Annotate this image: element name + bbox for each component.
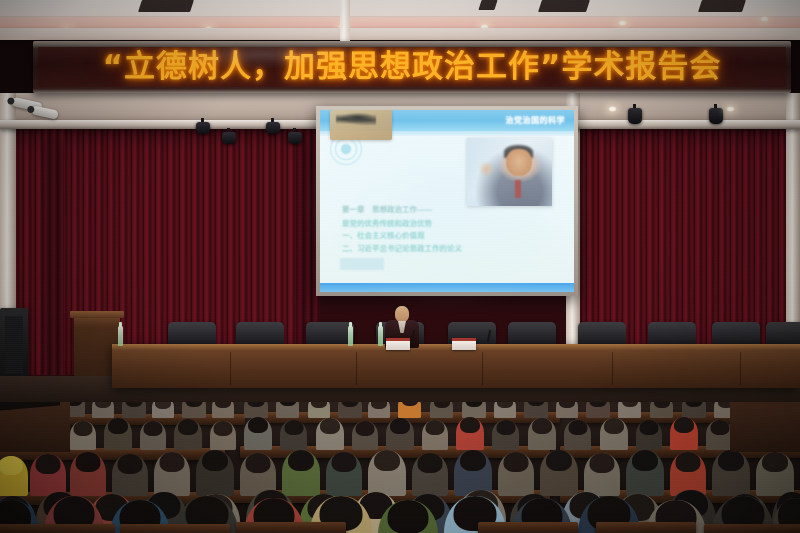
audience-person [112,454,148,496]
audience-person [422,420,448,450]
audience-person [282,450,320,496]
stage-light [266,118,280,134]
ceiling-vent [138,0,194,12]
curtain-fold-edge [42,125,64,375]
audience-person [154,452,190,496]
ceiling-column [340,0,350,42]
seat-bench-foreground [478,522,578,533]
ceiling-soffit [0,28,800,40]
audience-person [412,453,448,496]
audience-person [600,418,628,450]
audience-person [456,417,484,450]
audience-person [30,454,66,496]
audience-person [196,450,234,496]
audience-person [712,450,750,496]
slide-bullet-2: 一、社会主义核心价值观 [342,230,492,243]
audience-person [498,452,534,496]
seat-bench-foreground [596,522,696,533]
lectern-top [70,311,124,318]
audience-person [70,421,96,450]
audience-person [670,417,698,450]
audience-person [280,420,307,450]
audience-person [0,456,28,496]
ceiling-downlight [760,16,769,22]
ceiling-inner-panel [0,0,800,17]
audience-person [352,421,378,450]
slide-bullet-1: 是党的优秀传统和政治优势 [342,218,492,231]
auditorium-photo: “立德树人，加强思想政治工作”学术报告会 治党治国的科学 [0,0,800,533]
audience-person [584,453,620,496]
projection-screen: 治党治国的科学 第一章 思想政治工作—— 是党的优秀传统和政治优势 一、社会主义… [316,106,578,296]
slide-footer-bar [320,283,574,292]
stage-spot-light [726,106,735,112]
water-bottle [118,326,123,346]
audience-person [368,450,406,496]
presentation-slide: 治党治国的科学 第一章 思想政治工作—— 是党的优秀传统和政治优势 一、社会主义… [320,110,574,292]
portrait-tie [515,180,521,198]
pa-loudspeaker [0,308,28,386]
portrait-face [506,149,532,176]
audience-person [540,450,578,496]
stage-spot-light [608,106,617,112]
audience-person [626,450,664,496]
ceiling-vent [538,0,590,12]
ceiling-vent [478,0,497,10]
slide-bullet-list: 第一章 思想政治工作—— 是党的优秀传统和政治优势 一、社会主义核心价值观 二、… [342,204,492,255]
projector-glare-artifact [330,110,392,140]
banner-title-text: “立德树人，加强思想政治工作”学术报告会 [103,52,722,83]
ceiling-downlight [618,20,627,26]
audience-person [104,418,132,450]
audience-person [564,420,591,450]
audience-person [636,420,662,450]
led-banner-screen: “立德树人，加强思想政治工作”学术报告会 [38,47,786,87]
stage-light [222,128,236,144]
audience-person [210,421,236,450]
water-bottle [378,326,383,346]
slide-bullet-0: 第一章 思想政治工作—— [342,204,492,217]
audience-person [70,452,106,496]
audience-person [706,420,733,450]
audience-person [756,452,794,496]
audience-person [140,421,166,450]
audience-person [528,418,556,450]
stage-light [709,104,723,120]
presenter-head [395,306,409,322]
portrait-waving-hand [479,161,494,177]
audience-person [244,417,272,450]
led-banner-frame: “立德树人，加强思想政治工作”学术报告会 [33,41,791,93]
audience-person [174,419,202,450]
slide-header-text: 治党治国的科学 [506,115,566,126]
table-nameplate [452,338,476,350]
water-bottle [348,326,353,346]
audience-person [386,418,414,450]
stage-light [196,118,210,134]
audience-person [492,420,519,450]
seat-bench-foreground [120,524,230,533]
slide-placeholder-box [340,258,384,270]
audience-person [326,452,362,496]
slide-portrait-photo [467,138,552,206]
seat-bench-foreground [0,524,115,533]
slide-bullet-3: 二、习近平总书记论思政工作的论义 [342,243,492,256]
table-nameplate [386,338,410,350]
ceiling-vent [698,0,746,12]
seat-bench-foreground [236,522,346,533]
audience-area [0,392,800,533]
stage-light [288,128,302,144]
head-table [112,344,800,388]
seat-bench-foreground [704,524,800,533]
stage-light [628,104,642,120]
audience-person [454,450,492,496]
audience-person [316,418,344,450]
